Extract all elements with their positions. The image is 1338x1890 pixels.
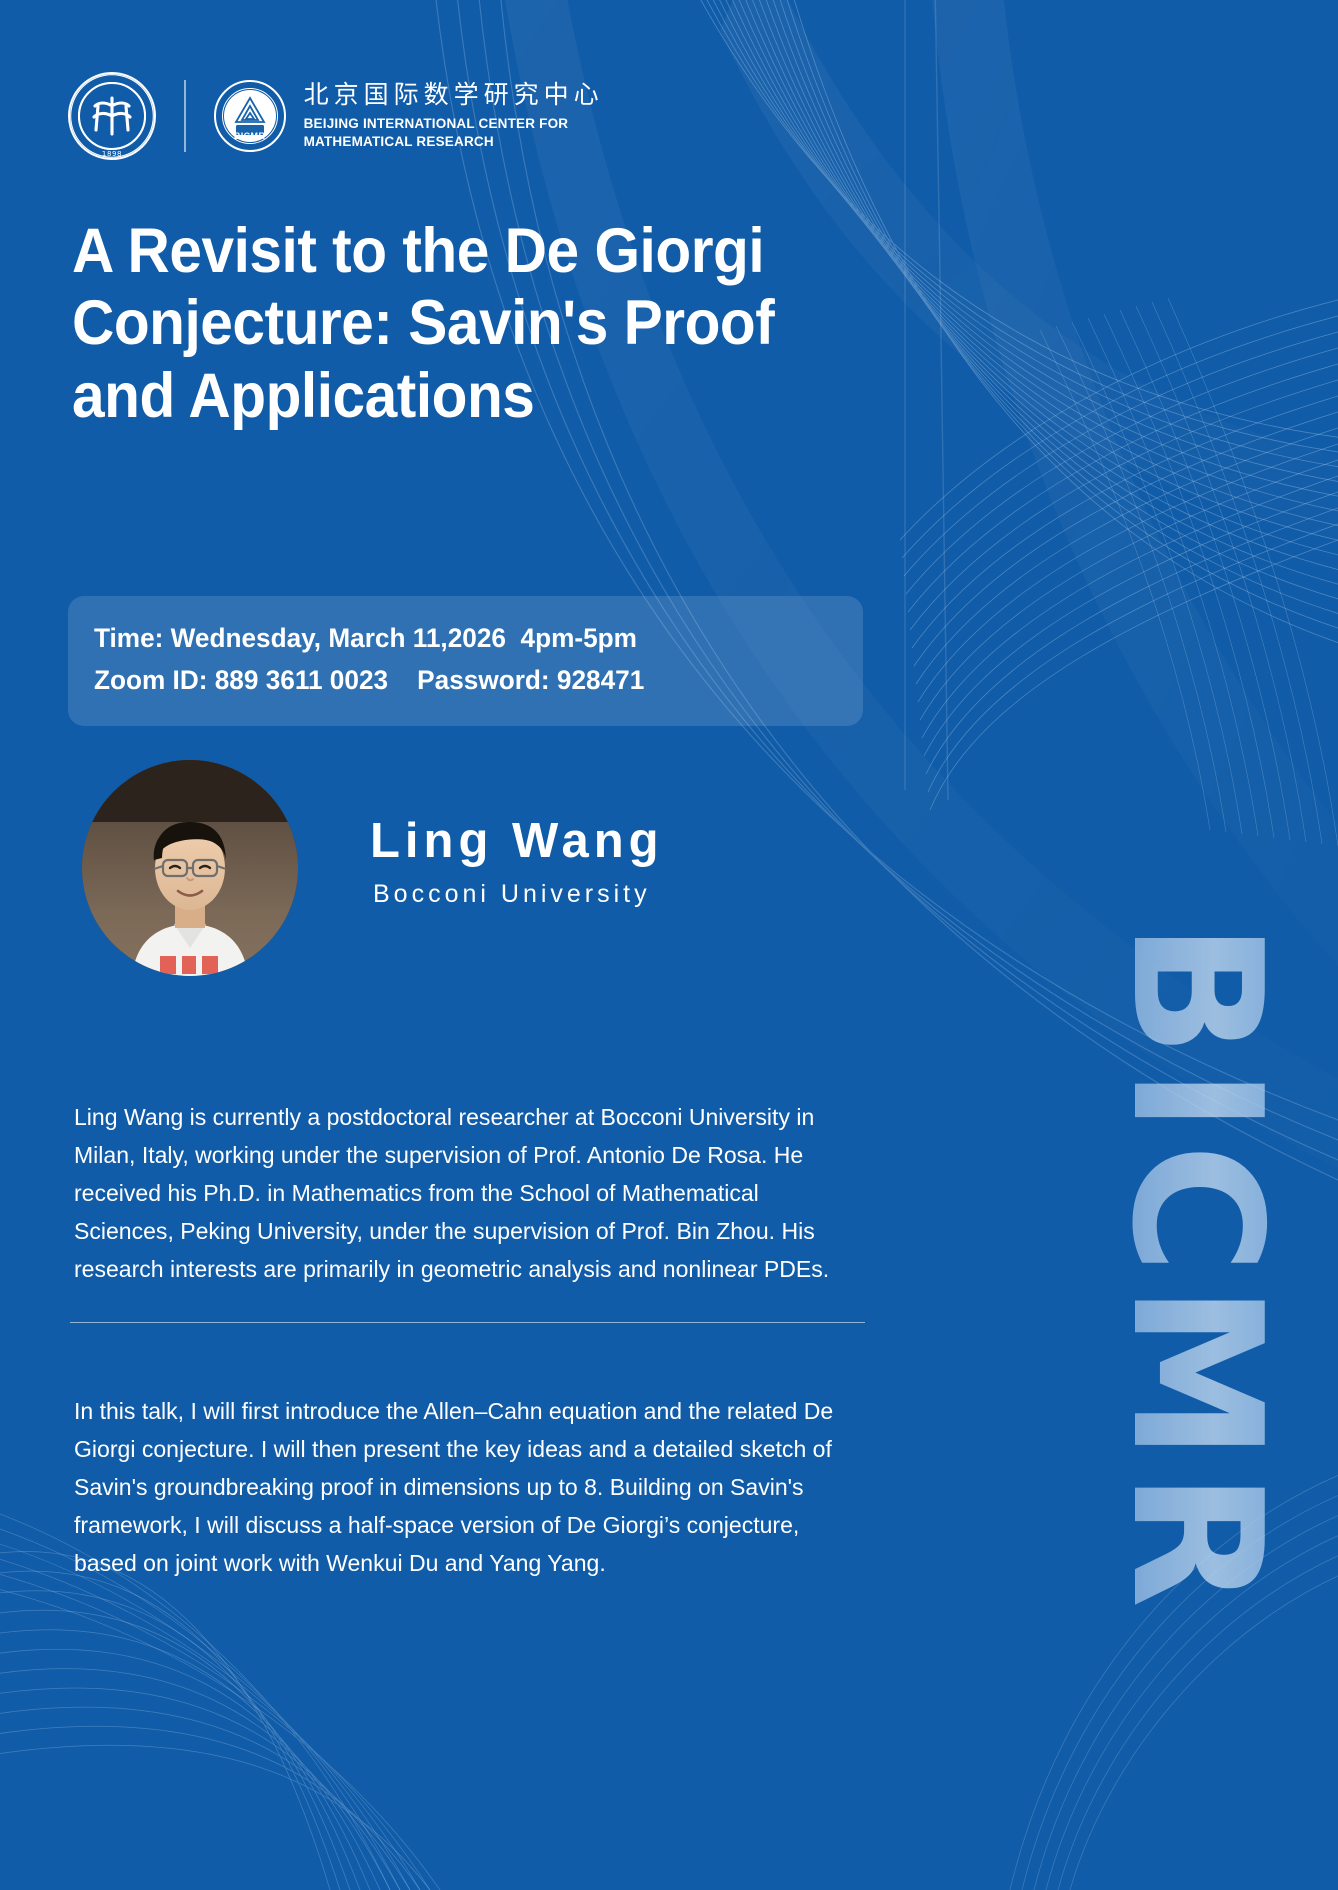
peking-university-logo-icon: 1898 — [68, 72, 156, 160]
speaker-block: Ling Wang Bocconi University — [82, 760, 664, 976]
org-name-chinese: 北京国际数学研究中心 — [304, 81, 604, 110]
speaker-text-block: Ling Wang Bocconi University — [370, 815, 664, 922]
bicmr-mark-label: BICMR — [214, 131, 286, 141]
organization-name-block: 北京国际数学研究中心 BEIJING INTERNATIONAL CENTER … — [304, 81, 604, 150]
speaker-bio: Ling Wang is currently a postdoctoral re… — [74, 1098, 858, 1288]
svg-text:1898: 1898 — [102, 150, 122, 158]
bicmr-watermark-text: BICMR — [1107, 922, 1285, 1619]
speaker-affiliation: Bocconi University — [370, 880, 664, 909]
talk-abstract: In this talk, I will first introduce the… — [74, 1392, 863, 1582]
talk-title-line2: Conjecture: Savin's Proof — [72, 287, 844, 359]
seminar-poster: BICMR 1898 — [0, 0, 1338, 1890]
org-name-english-line2: MATHEMATICAL RESEARCH — [304, 133, 604, 151]
event-zoom-credentials: Zoom ID: 889 3611 0023 Password: 928471 — [94, 660, 815, 702]
speaker-avatar — [82, 760, 298, 976]
speaker-name: Ling Wang — [370, 815, 664, 869]
org-name-english-line1: BEIJING INTERNATIONAL CENTER FOR — [304, 115, 604, 133]
event-time: Time: Wednesday, March 11,2026 4pm-5pm — [94, 618, 815, 660]
talk-title-line1: A Revisit to the De Giorgi — [72, 215, 844, 287]
talk-title-line3: and Applications — [72, 360, 844, 432]
bicmr-watermark: BICMR — [1096, 960, 1296, 1580]
section-divider — [70, 1322, 865, 1323]
bicmr-logo-icon: BICMR — [214, 80, 286, 152]
organization-header: 1898 BICMR 北京国际数学研究中心 BEIJING INTERNATIO… — [68, 72, 604, 160]
logo-divider — [184, 80, 186, 152]
talk-title: A Revisit to the De Giorgi Conjecture: S… — [72, 215, 844, 432]
event-info-box: Time: Wednesday, March 11,2026 4pm-5pm Z… — [68, 596, 863, 726]
